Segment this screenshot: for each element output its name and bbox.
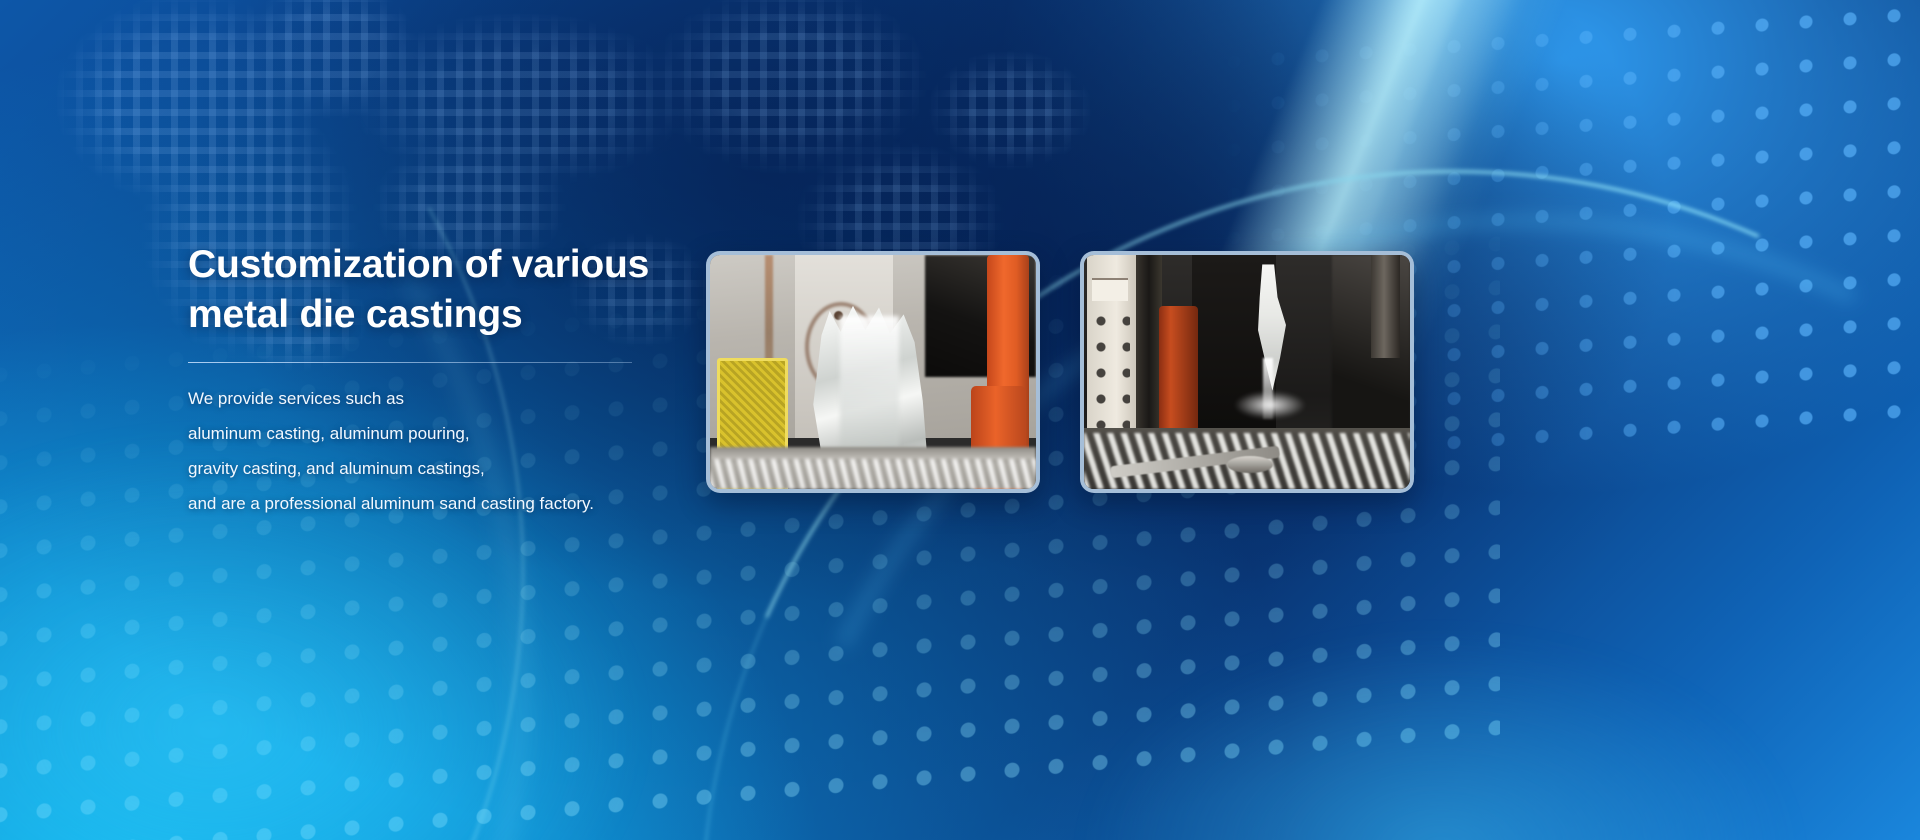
banner-copy: Customization of various metal die casti… [188,240,658,513]
hero-banner: Customization of various metal die casti… [0,0,1920,840]
banner-content: Customization of various metal die casti… [0,0,1920,840]
headline-line-1: Customization of various [188,243,649,286]
description-line-2: aluminum casting, aluminum pouring, [188,424,658,443]
photo-1-image [710,255,1036,489]
photo-2-image [1084,255,1410,489]
title-divider [188,362,632,363]
page-title: Customization of various metal die casti… [188,240,658,340]
photo-aluminum-die-casting-extraction[interactable] [706,251,1040,493]
description-line-3: gravity casting, and aluminum castings, [188,459,658,478]
photo-molten-aluminum-pouring[interactable] [1080,251,1414,493]
banner-description: We provide services such as aluminum cas… [188,389,658,513]
description-line-1: We provide services such as [188,389,658,408]
description-line-4: and are a professional aluminum sand cas… [188,494,658,513]
headline-line-2: metal die castings [188,293,523,336]
